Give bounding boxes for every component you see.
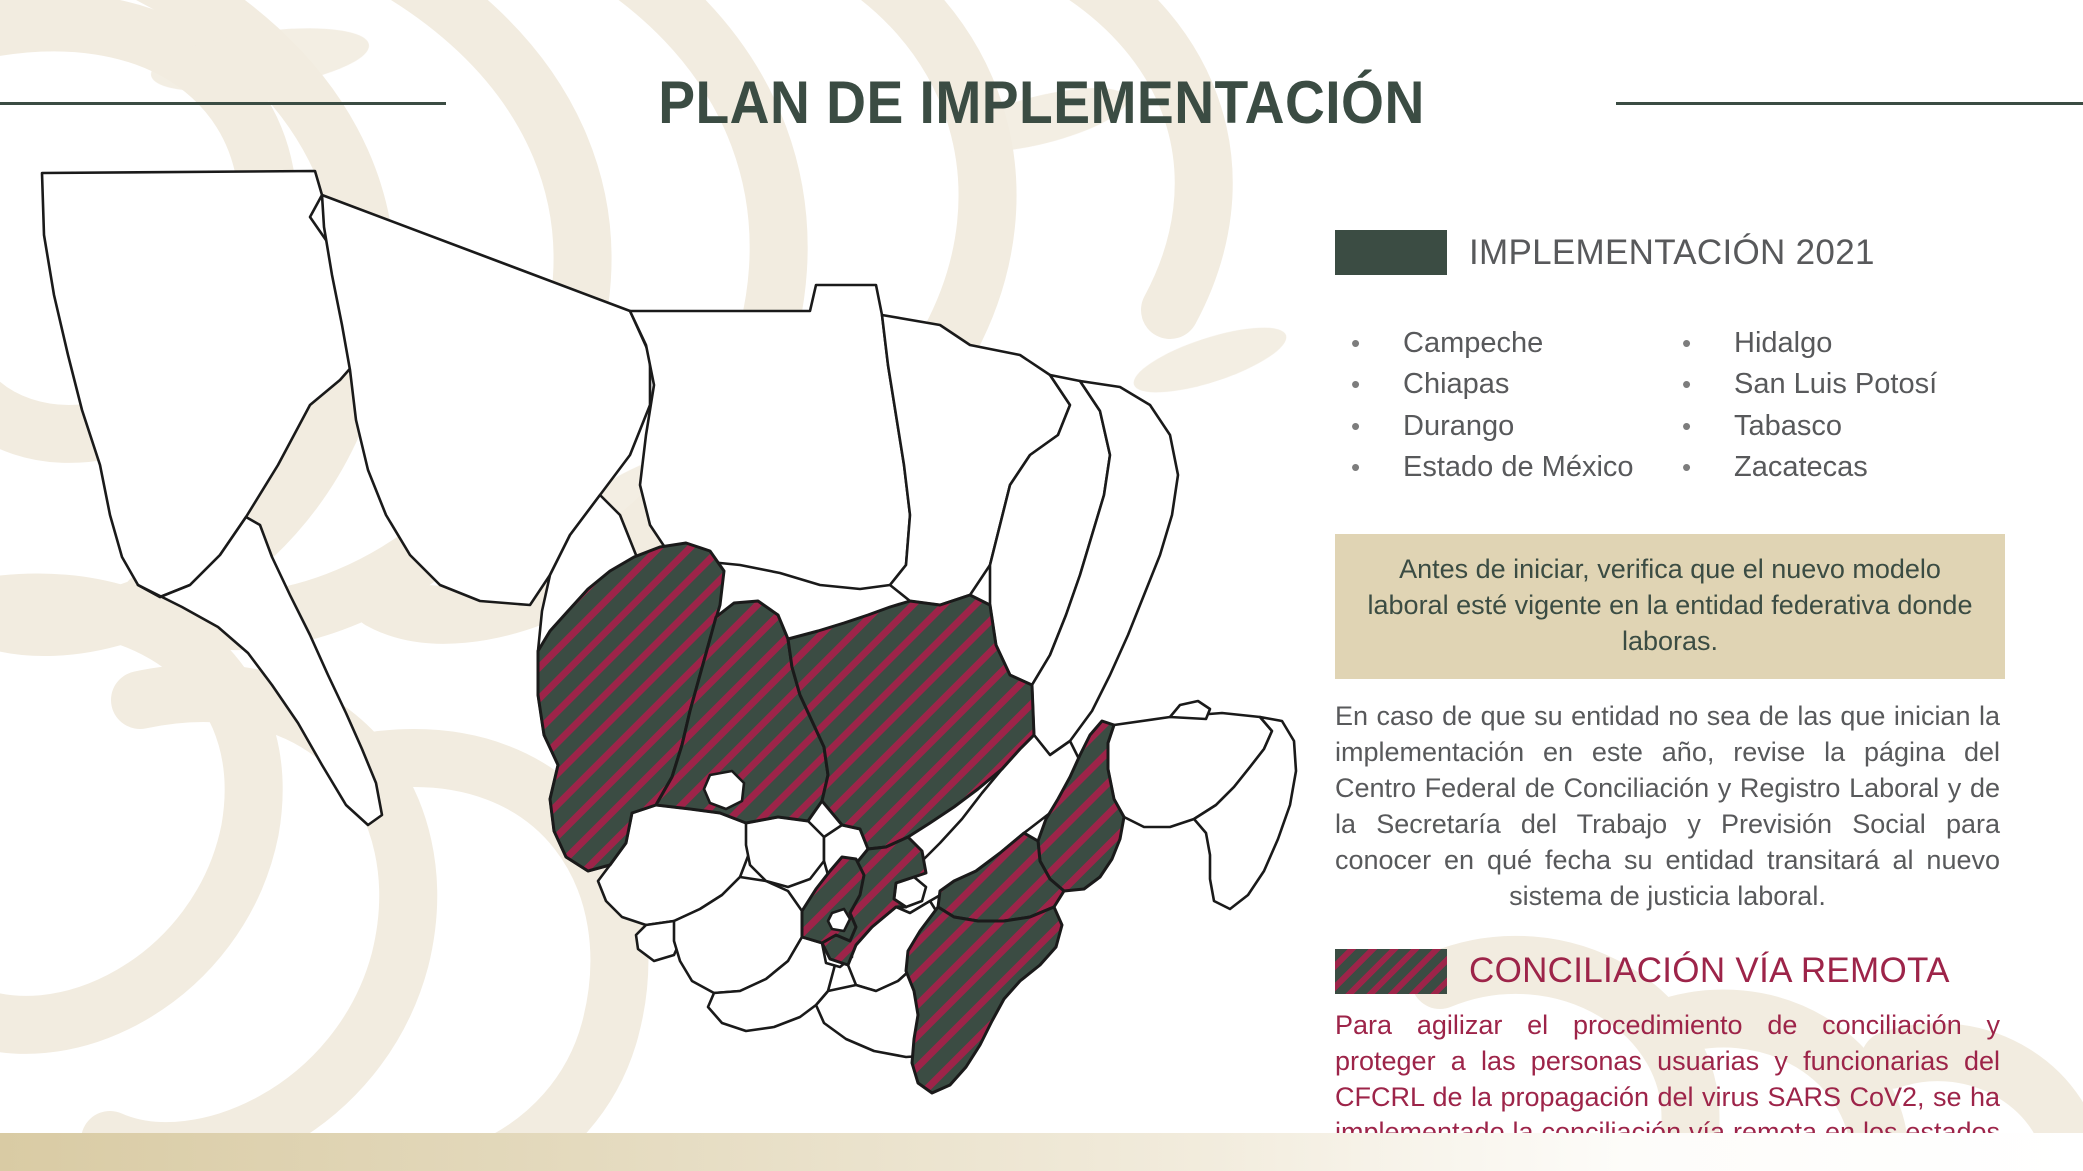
bullet-icon: • [1674,413,1734,439]
state-chihuahua [630,285,910,589]
state-label: Tabasco [1734,410,1842,443]
bullet-icon: • [1343,454,1403,480]
state-label: Campeche [1403,327,1543,360]
list-item: • San Luis Potosí [1674,368,2005,401]
mexico-map-svg [10,165,1310,1095]
state-label: Hidalgo [1734,327,1832,360]
state-column-right: • Hidalgo • San Luis Potosí • Tabasco • … [1674,327,2005,492]
list-item: • Campeche [1343,327,1674,360]
bullet-icon: • [1674,371,1734,397]
state-lists: • Campeche • Chiapas • Durango • Estado … [1335,327,2005,492]
bottom-accent-bar [0,1133,2083,1171]
right-info-panel: IMPLEMENTACIÓN 2021 • Campeche • Chiapas… [1335,230,2005,1171]
list-item: • Chiapas [1343,368,1674,401]
state-label: Estado de México [1403,451,1634,484]
hatched-swatch [1335,949,1447,994]
state-baja-california [42,171,362,597]
page-title: PLAN DE IMPLEMENTACIÓN [83,60,1999,146]
state-chiapas-highlight [906,907,1062,1093]
list-item: • Tabasco [1674,410,2005,443]
implementation-note-paragraph: En caso de que su entidad no sea de las … [1335,699,2000,914]
legend-remote-label: CONCILIACIÓN VÍA REMOTA [1469,951,1950,991]
list-item: • Durango [1343,410,1674,443]
bullet-icon: • [1343,371,1403,397]
bullet-icon: • [1343,413,1403,439]
list-item: • Estado de México [1343,451,1674,484]
bullet-icon: • [1343,330,1403,356]
state-label: Durango [1403,410,1514,443]
list-item: • Hidalgo [1674,327,2005,360]
state-yucatan-coast [1170,701,1210,719]
callout-box: Antes de iniciar, verifica que el nuevo … [1335,534,2005,679]
state-aguascalientes-hole [704,771,744,809]
slide-canvas: PLAN DE IMPLEMENTACIÓN [0,0,2083,1171]
state-label: San Luis Potosí [1734,368,1937,401]
state-ciudad-de-mexico [828,909,850,931]
legend-implementation: IMPLEMENTACIÓN 2021 [1335,230,2005,275]
legend-implementation-label: IMPLEMENTACIÓN 2021 [1469,233,1875,273]
state-label: Zacatecas [1734,451,1868,484]
state-label: Chiapas [1403,368,1509,401]
state-guanajuato [746,817,824,887]
list-item: • Zacatecas [1674,451,2005,484]
mexico-map [10,165,1310,1095]
state-column-left: • Campeche • Chiapas • Durango • Estado … [1343,327,1674,492]
bullet-icon: • [1674,330,1734,356]
solid-green-swatch [1335,230,1447,275]
title-band: PLAN DE IMPLEMENTACIÓN [0,60,2083,150]
legend-remote-conciliation: CONCILIACIÓN VÍA REMOTA [1335,949,2005,994]
bullet-icon: • [1674,454,1734,480]
